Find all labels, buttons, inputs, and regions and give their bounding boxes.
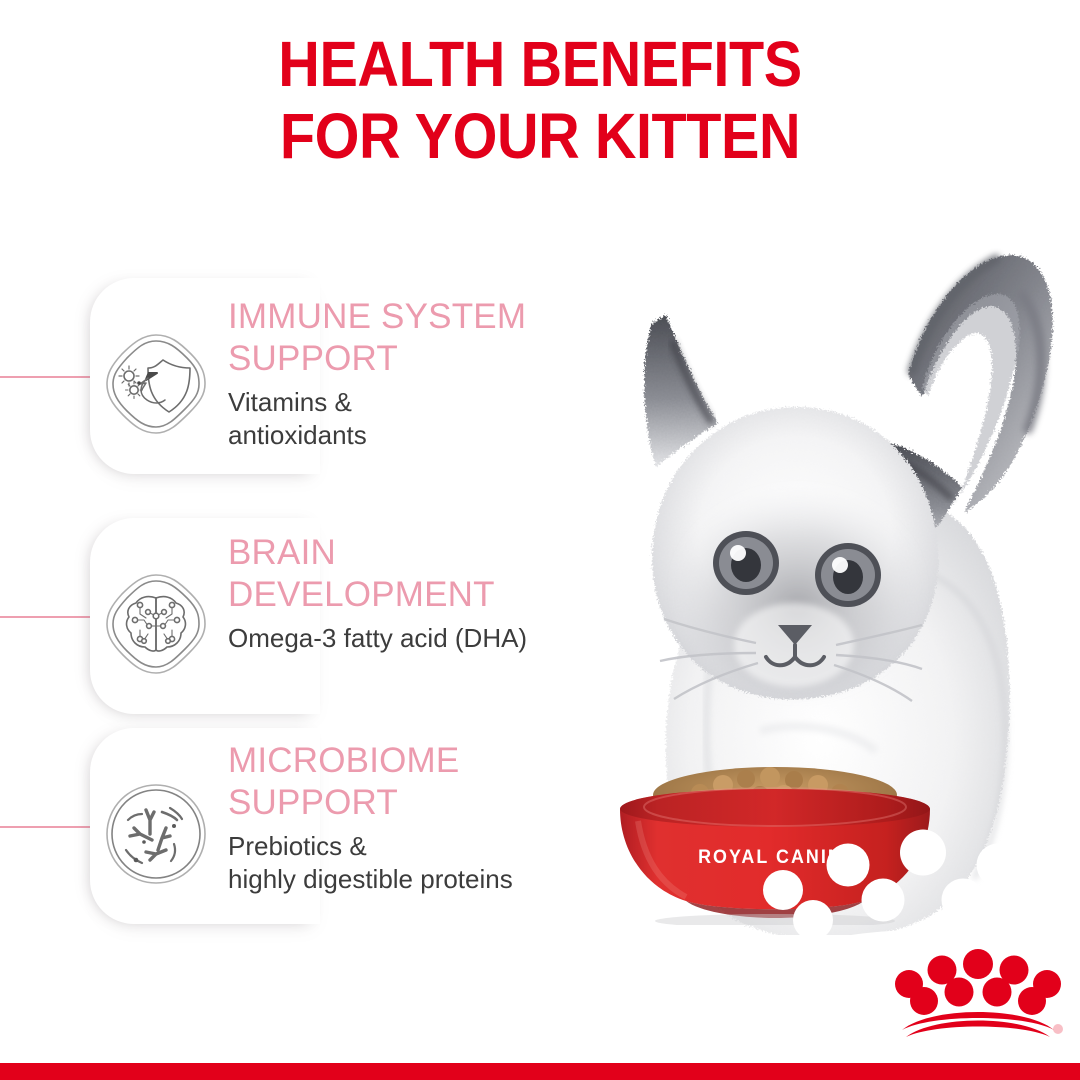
benefits-list: IMMUNE SYSTEM SUPPORT Vitamins & antioxi… [0, 0, 600, 1080]
benefit-item-microbiome-support: MICROBIOME SUPPORT Prebiotics & highly d… [0, 728, 600, 928]
benefit-subtitle: Vitamins & antioxidants [228, 386, 588, 452]
royal-canin-crown-logo [893, 944, 1063, 1044]
benefit-title: IMMUNE SYSTEM SUPPORT [228, 296, 588, 380]
benefit-text-group: BRAIN DEVELOPMENT Omega-3 fatty acid (DH… [228, 532, 588, 655]
microbiome-petri-dish-icon [100, 778, 212, 890]
connector-line [0, 826, 92, 828]
benefit-item-brain-development: BRAIN DEVELOPMENT Omega-3 fatty acid (DH… [0, 518, 600, 718]
immune-shield-icon [100, 328, 212, 440]
footer-red-bar [0, 1063, 1080, 1080]
poster-canvas: HEALTH BENEFITS FOR YOUR KITTEN [0, 0, 1080, 1080]
crown-icon [738, 815, 812, 845]
bowl-registered-mark: ® [843, 848, 852, 859]
connector-line [0, 616, 92, 618]
pet-food-bowl: ROYAL CANIN® [590, 755, 960, 925]
benefit-text-group: IMMUNE SYSTEM SUPPORT Vitamins & antioxi… [228, 296, 588, 452]
bowl-brand-name: ROYAL CANIN [698, 847, 843, 868]
brain-icon [100, 568, 212, 680]
benefit-subtitle: Omega-3 fatty acid (DHA) [228, 622, 588, 655]
benefit-text-group: MICROBIOME SUPPORT Prebiotics & highly d… [228, 740, 588, 896]
connector-line [0, 376, 92, 378]
benefit-title: BRAIN DEVELOPMENT [228, 532, 588, 616]
benefit-subtitle: Prebiotics & highly digestible proteins [228, 830, 588, 896]
benefit-item-immune-system-support: IMMUNE SYSTEM SUPPORT Vitamins & antioxi… [0, 278, 600, 478]
benefit-title: MICROBIOME SUPPORT [228, 740, 588, 824]
bowl-brand-text: ROYAL CANIN® [601, 847, 949, 869]
